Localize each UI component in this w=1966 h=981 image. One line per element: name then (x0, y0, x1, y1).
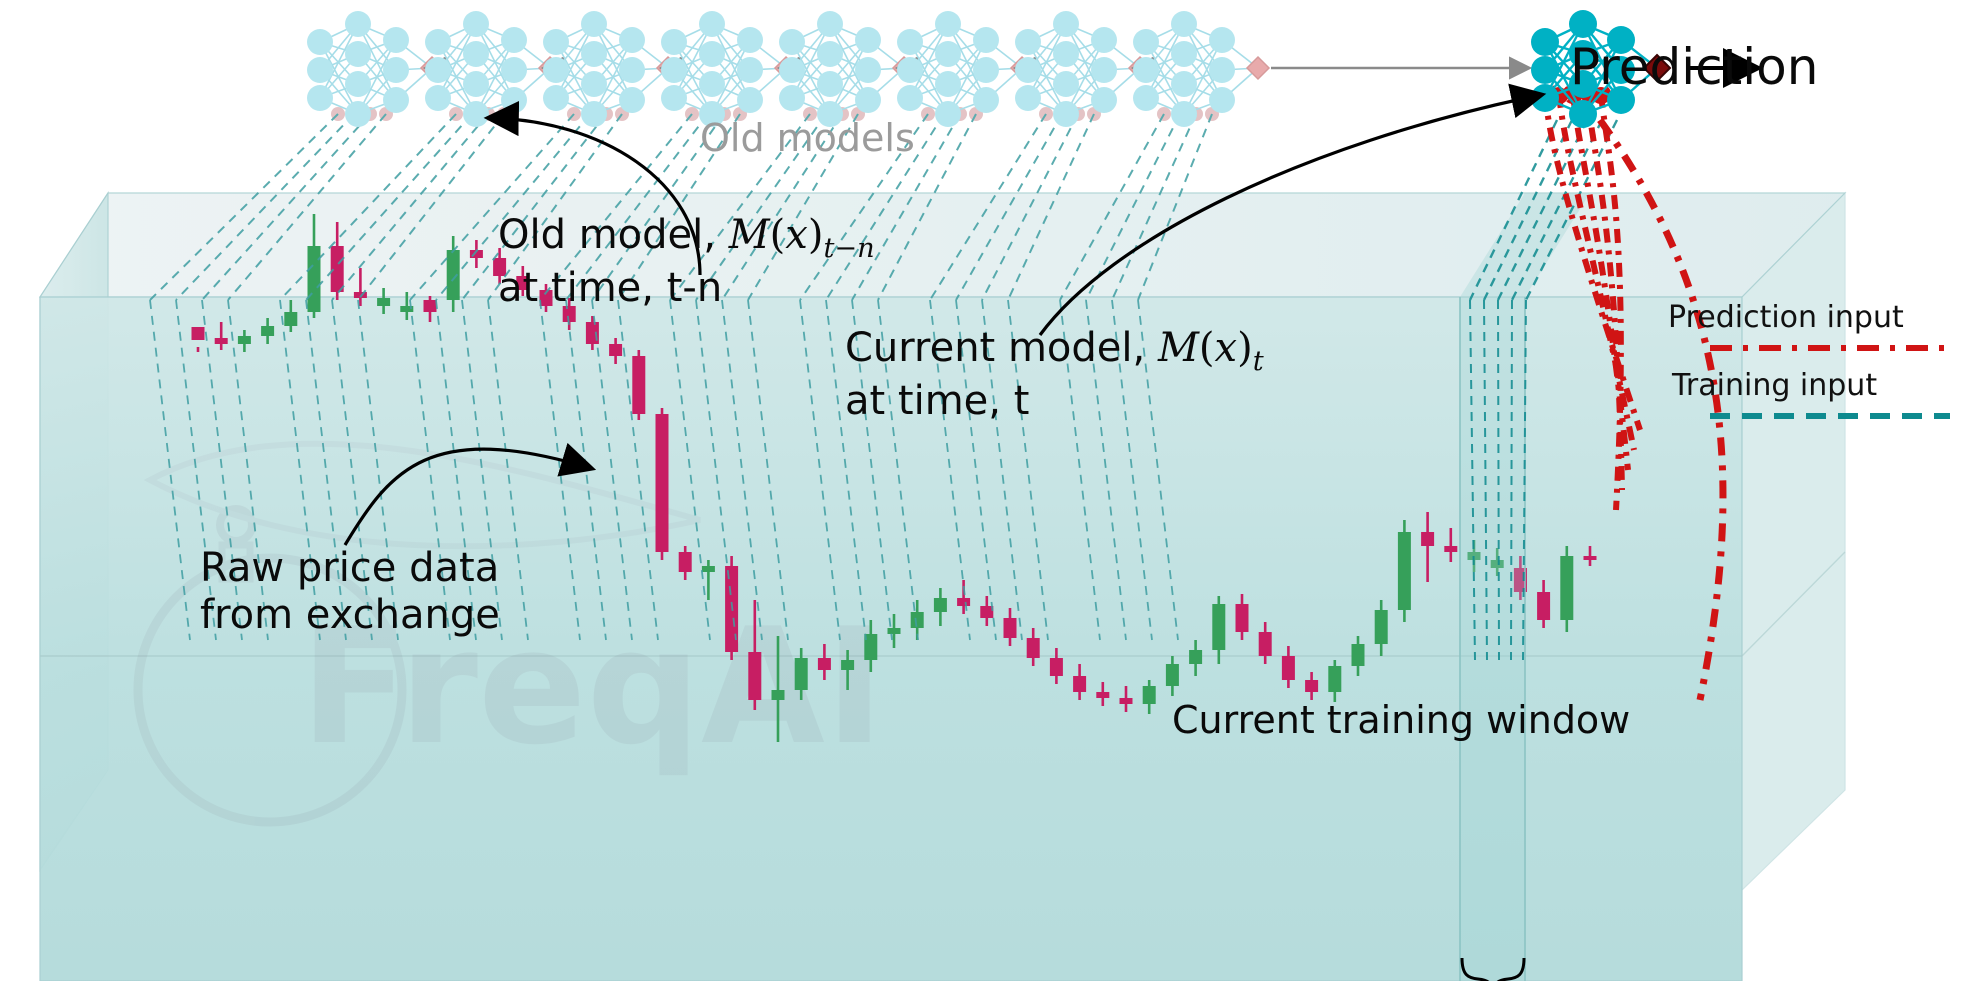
current-model-annotation-line1: Current model, M(x)t (845, 325, 1264, 378)
raw-price-annotation: Raw price data from exchange (200, 545, 500, 639)
old-model-math-x: x (785, 212, 808, 258)
current-model-math-M: M (1158, 325, 1199, 371)
box-right-face (1742, 193, 1845, 890)
current-model-math-subscript: t (1253, 346, 1264, 377)
old-models-label: Old models (700, 116, 915, 161)
prediction-label: Prediction (1570, 38, 1818, 97)
raw-price-line1: Raw price data (200, 545, 500, 592)
raw-price-line2: from exchange (200, 592, 500, 639)
old-model-math-subscript: t−n (823, 233, 874, 264)
current-model-annotation-line2: at time, t (845, 378, 1264, 425)
current-training-window-label: Current training window (1172, 698, 1630, 743)
current-model-math-paren-close: ) (1237, 325, 1253, 371)
diagram-svg: FreqAI (0, 0, 1966, 981)
old-model-annotation-line2: at time, t-n (498, 265, 875, 312)
old-model-math-paren-open: ( (770, 212, 786, 258)
old-model-annotation-line1: Old model, M(x)t−n (498, 212, 875, 265)
current-model-math-paren-open: ( (1199, 325, 1215, 371)
figure-canvas: FreqAI (0, 0, 1966, 981)
model-chain (307, 10, 1670, 128)
old-model-math-M: M (729, 212, 770, 258)
legend-label-prediction-input: Prediction input (1668, 300, 1904, 335)
legend-label-training-input: Training input (1672, 368, 1877, 403)
old-model-annotation: Old model, M(x)t−n at time, t-n (498, 212, 875, 312)
old-model-math-paren-close: ) (808, 212, 824, 258)
current-model-math-x: x (1215, 325, 1238, 371)
current-model-annotation: Current model, M(x)t at time, t (845, 325, 1264, 425)
